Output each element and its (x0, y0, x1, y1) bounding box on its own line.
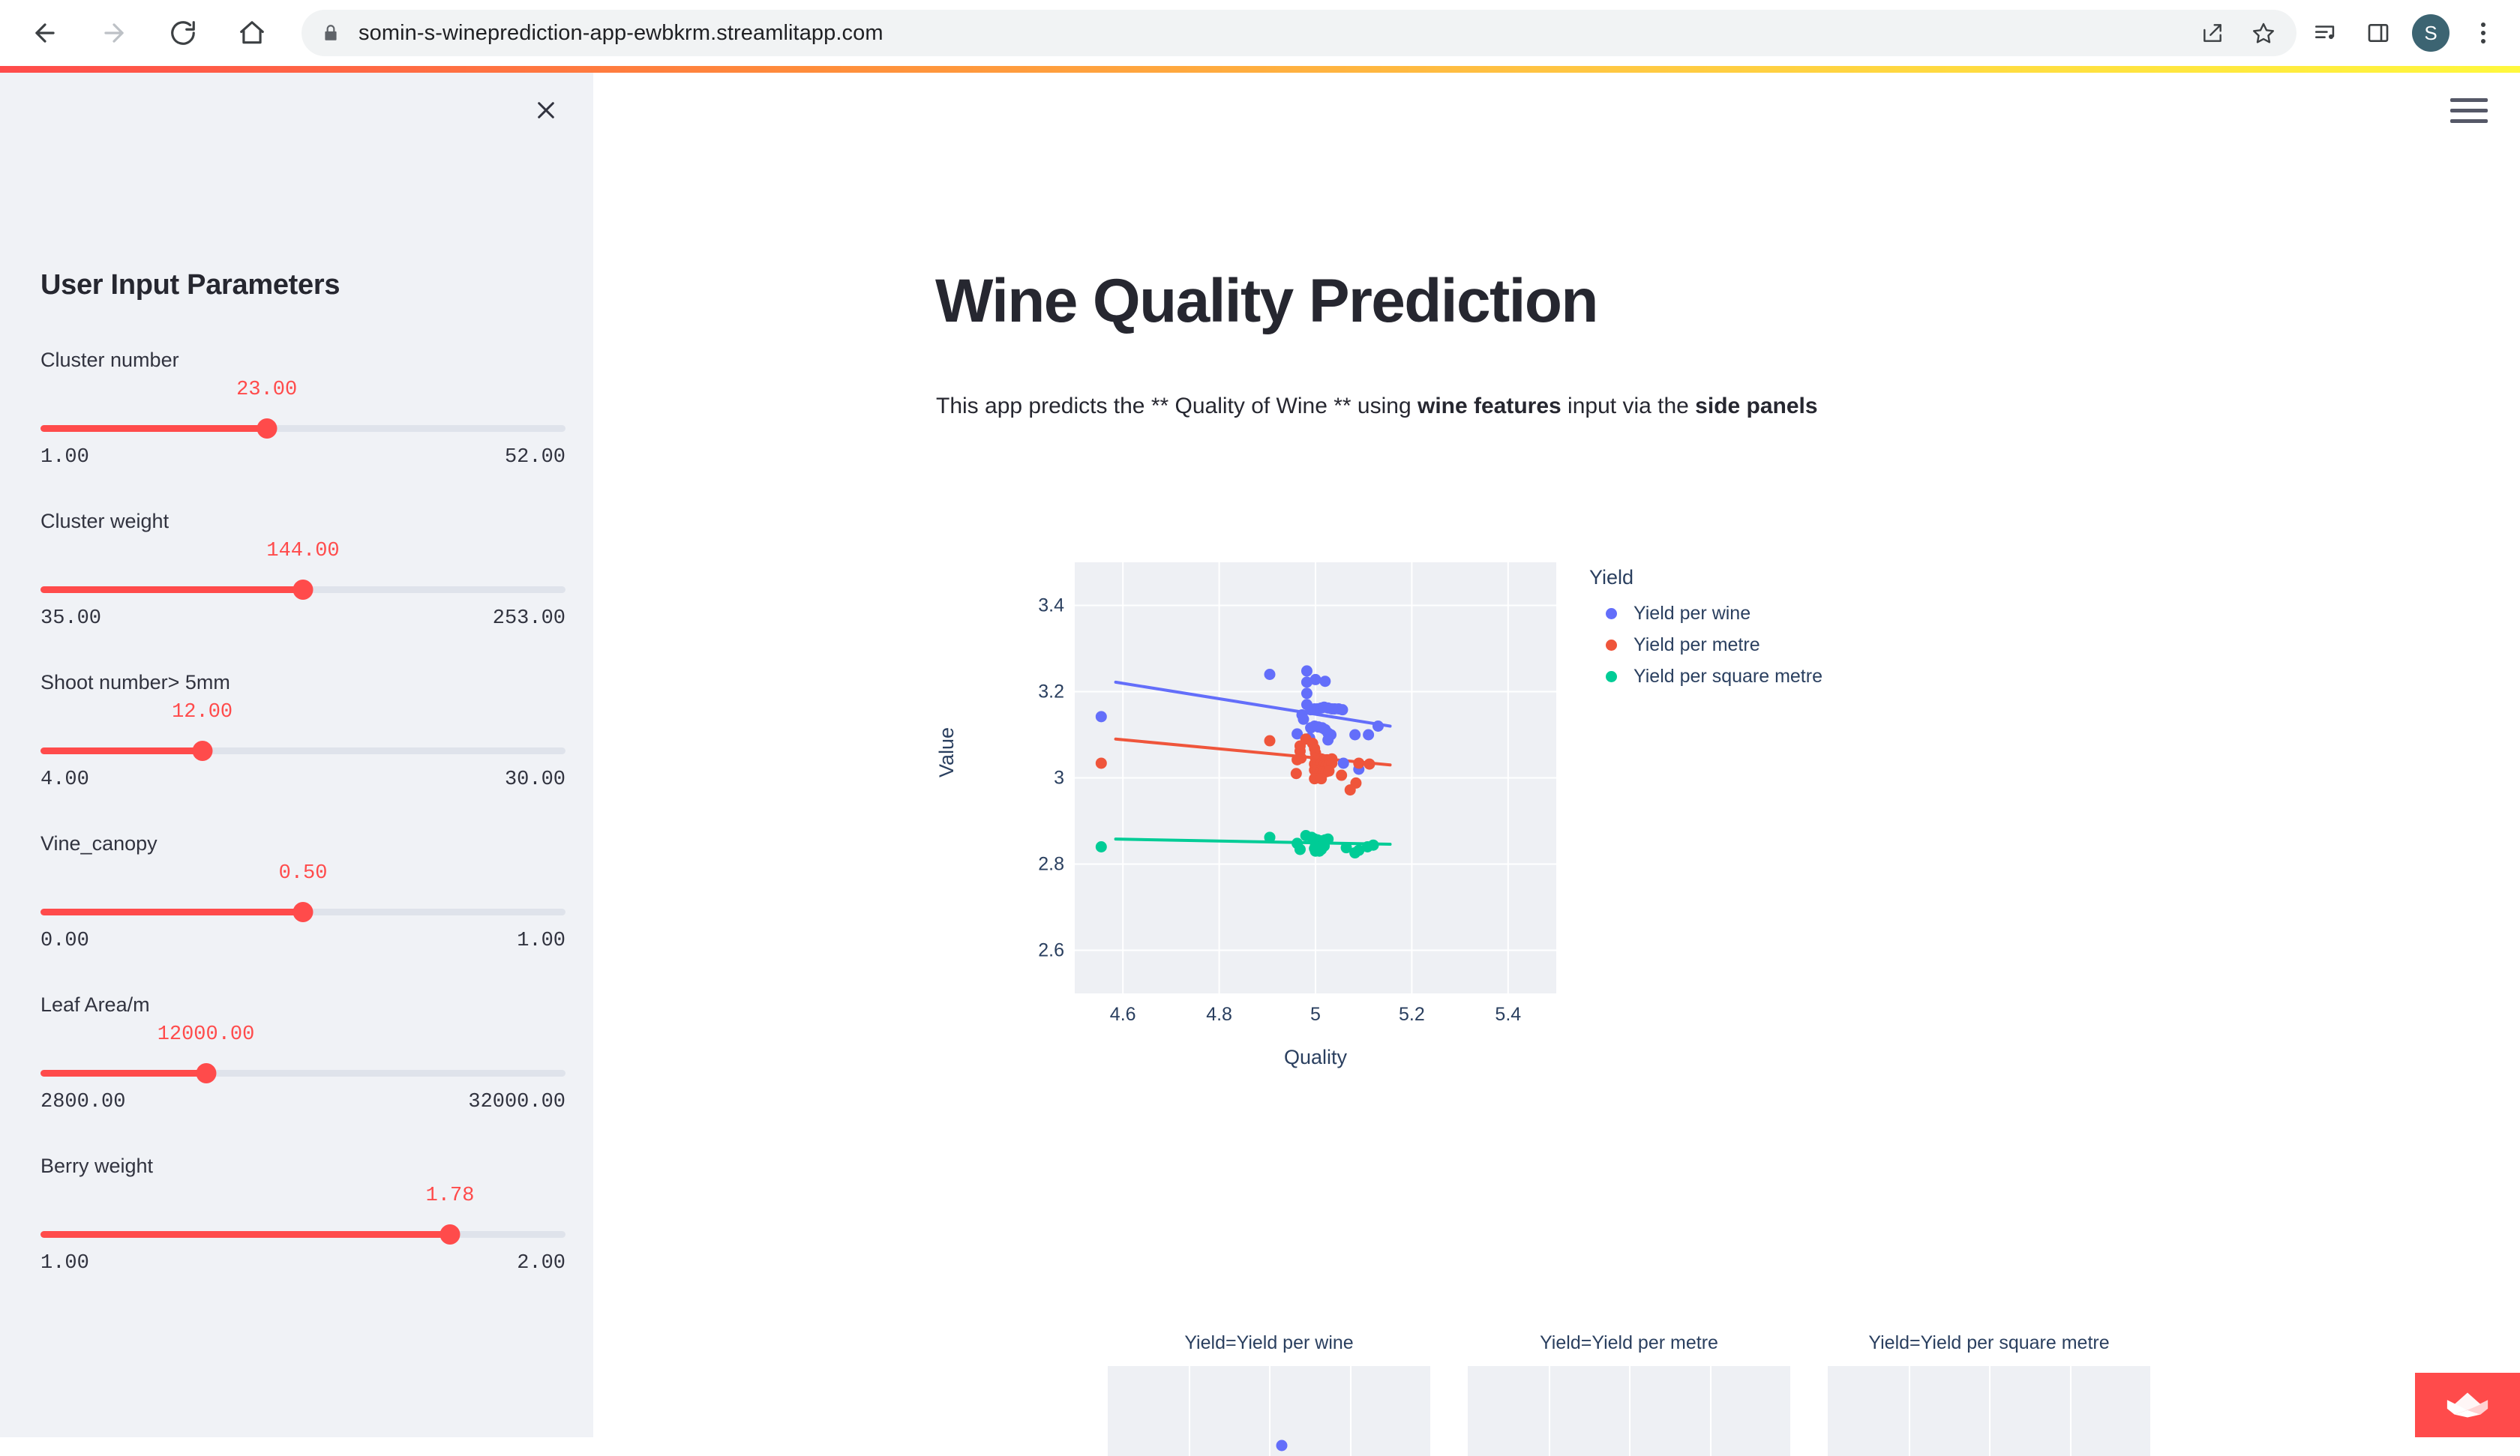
facet-grid-line (1629, 1366, 1630, 1456)
data-point[interactable] (1372, 721, 1384, 732)
y-tick-label: 2.6 (1038, 939, 1064, 961)
slider-label: Cluster number (40, 350, 565, 370)
slider-thumb[interactable] (293, 580, 313, 600)
facet-grid-line (1710, 1366, 1711, 1456)
page-title: Wine Quality Prediction (935, 266, 1597, 337)
data-point[interactable] (1368, 840, 1379, 851)
y-tick-label: 3.2 (1038, 681, 1064, 703)
legend-color-dot (1606, 671, 1617, 682)
slider-value: 1.78 (426, 1185, 475, 1207)
facet-grid-line (2070, 1366, 2071, 1456)
slider-fill (40, 425, 267, 432)
page-subtitle: This app predicts the ** Quality of Wine… (936, 389, 1818, 423)
facet-panel-0: Yield=Yield per wine (1108, 1332, 1430, 1456)
data-point[interactable] (1319, 676, 1330, 687)
data-point[interactable] (1096, 841, 1107, 852)
slider-bounds: 4.0030.00 (40, 768, 565, 791)
subtitle-bold-1: wine features (1417, 394, 1561, 418)
browser-toolbar-actions: S (2302, 10, 2506, 56)
slider-fill (40, 586, 303, 593)
data-point[interactable] (1315, 773, 1327, 784)
facet-data-point[interactable] (1276, 1440, 1288, 1452)
slider-4[interactable]: Leaf Area/m12000.002800.0032000.00 (40, 995, 565, 1156)
slider-3[interactable]: Vine_canopy0.500.001.00 (40, 834, 565, 995)
data-point[interactable] (1096, 757, 1107, 768)
slider-thumb[interactable] (196, 1063, 216, 1083)
x-tick-label: 5 (1310, 1004, 1321, 1026)
reload-icon[interactable] (159, 9, 207, 57)
facet-grid-line (1909, 1366, 1910, 1456)
lock-icon (321, 23, 340, 43)
facet-plot-area (1828, 1366, 2150, 1456)
facet-strip: Yield Yield=Yield per wineYield=Yield pe… (935, 1332, 2480, 1437)
slider-max: 253.00 (493, 607, 565, 630)
data-point[interactable] (1264, 831, 1276, 843)
data-point[interactable] (1349, 847, 1360, 858)
facet-grid-line (1350, 1366, 1351, 1456)
slider-track[interactable] (40, 425, 565, 432)
plot-svg (1075, 562, 1556, 993)
x-tick-label: 4.6 (1110, 1004, 1136, 1026)
y-axis-label: Value (935, 727, 958, 777)
address-bar[interactable]: somin-s-wineprediction-app-ewbkrm.stream… (301, 10, 2296, 56)
sidebar: User Input Parameters Cluster number23.0… (0, 73, 593, 1437)
avatar-initial: S (2412, 14, 2449, 52)
slider-max: 1.00 (517, 930, 565, 952)
x-tick-label: 5.2 (1399, 1004, 1425, 1026)
slider-track[interactable] (40, 1070, 565, 1077)
x-tick-label: 5.4 (1495, 1004, 1521, 1026)
slider-label: Cluster weight (40, 511, 565, 532)
slider-track[interactable] (40, 1231, 565, 1238)
slider-fill (40, 909, 303, 915)
facet-panel-1: Yield=Yield per metre (1468, 1332, 1790, 1456)
slider-value: 0.50 (279, 862, 328, 885)
data-point[interactable] (1301, 665, 1312, 676)
data-point[interactable] (1291, 754, 1303, 765)
trendline (1116, 739, 1390, 765)
data-point[interactable] (1310, 674, 1321, 685)
slider-1[interactable]: Cluster weight144.0035.00253.00 (40, 511, 565, 673)
legend-label: Yield per metre (1633, 634, 1760, 656)
legend-label: Yield per wine (1633, 603, 1750, 625)
data-point[interactable] (1349, 729, 1360, 741)
facet-title: Yield=Yield per square metre (1828, 1332, 2150, 1354)
facet-title: Yield=Yield per metre (1468, 1332, 1790, 1354)
slider-bounds: 2800.0032000.00 (40, 1091, 565, 1113)
main-content: Wine Quality Prediction This app predict… (593, 73, 2520, 1437)
data-point[interactable] (1264, 669, 1276, 680)
slider-min: 1.00 (40, 1252, 89, 1275)
slider-0[interactable]: Cluster number23.001.0052.00 (40, 350, 565, 511)
streamlit-loading-gradient-bar (0, 66, 2520, 73)
y-tick-label: 3.4 (1038, 595, 1064, 616)
legend-item[interactable]: Yield per metre (1589, 634, 1822, 656)
y-tick-label: 2.8 (1038, 853, 1064, 875)
slider-bounds: 1.002.00 (40, 1252, 565, 1275)
slider-value: 23.00 (236, 379, 297, 401)
slider-track[interactable] (40, 747, 565, 754)
legend-item[interactable]: Yield per square metre (1589, 666, 1822, 688)
legend-rows: Yield per wineYield per metreYield per s… (1589, 603, 1822, 688)
data-point[interactable] (1096, 711, 1107, 722)
browser-chrome: somin-s-wineprediction-app-ewbkrm.stream… (0, 0, 2520, 66)
slider-value: 12000.00 (157, 1023, 255, 1046)
legend-title: Yield (1589, 566, 1822, 589)
slider-track[interactable] (40, 586, 565, 593)
side-panel-icon[interactable] (2355, 10, 2401, 56)
forward-arrow-icon[interactable] (90, 9, 138, 57)
data-point[interactable] (1297, 714, 1309, 725)
slider-min: 0.00 (40, 930, 89, 952)
plot-area (1075, 562, 1556, 993)
slider-2[interactable]: Shoot number> 5mm12.004.0030.00 (40, 673, 565, 834)
slider-min: 2800.00 (40, 1091, 125, 1113)
streamlit-app: User Input Parameters Cluster number23.0… (0, 73, 2520, 1437)
data-point[interactable] (1322, 734, 1333, 745)
facet-plot-area (1468, 1366, 1790, 1456)
data-point[interactable] (1363, 759, 1375, 770)
home-icon[interactable] (228, 9, 276, 57)
subtitle-part-2: input via the (1561, 394, 1695, 418)
avatar[interactable]: S (2407, 10, 2454, 56)
slider-fill (40, 1070, 206, 1077)
slider-label: Leaf Area/m (40, 995, 565, 1015)
slider-list: Cluster number23.001.0052.00Cluster weig… (40, 350, 565, 1317)
legend-label: Yield per square metre (1633, 666, 1822, 688)
slider-bounds: 1.0052.00 (40, 446, 565, 469)
slider-min: 35.00 (40, 607, 101, 630)
legend-item[interactable]: Yield per wine (1589, 603, 1822, 625)
slider-bounds: 0.001.00 (40, 930, 565, 952)
data-point[interactable] (1363, 729, 1374, 741)
slider-label: Berry weight (40, 1156, 565, 1176)
chart-legend: Yield Yield per wineYield per metreYield… (1589, 566, 1822, 697)
data-point[interactable] (1338, 757, 1349, 768)
data-point[interactable] (1345, 784, 1356, 795)
close-icon[interactable] (525, 89, 567, 131)
data-point[interactable] (1336, 704, 1348, 715)
url-text: somin-s-wineprediction-app-ewbkrm.stream… (358, 21, 883, 46)
data-point[interactable] (1314, 846, 1325, 857)
facet-plot-area (1108, 1366, 1430, 1456)
legend-color-dot (1606, 608, 1617, 619)
slider-thumb[interactable] (256, 418, 277, 439)
data-point[interactable] (1294, 843, 1306, 855)
sidebar-title: User Input Parameters (40, 269, 340, 301)
slider-fill (40, 747, 202, 754)
slider-min: 4.00 (40, 768, 89, 791)
three-dot-menu-icon[interactable] (2460, 10, 2506, 56)
slider-max: 30.00 (505, 768, 565, 791)
data-point[interactable] (1291, 768, 1302, 779)
subtitle-bold-2: side panels (1695, 394, 1817, 418)
data-point[interactable] (1301, 688, 1312, 699)
omnibox-actions (2190, 10, 2286, 55)
slider-fill (40, 1231, 450, 1238)
data-point[interactable] (1264, 735, 1276, 747)
legend-color-dot (1606, 640, 1617, 651)
data-point[interactable] (1336, 770, 1347, 781)
x-axis-ticks: 4.64.855.25.4 (1075, 1004, 1556, 1034)
facet-panel-2: Yield=Yield per square metre (1828, 1332, 2150, 1456)
slider-track[interactable] (40, 909, 565, 915)
slider-bounds: 35.00253.00 (40, 607, 565, 630)
scatter-chart[interactable]: Value 2.62.833.23.4 4.64.855.25.4 Qualit… (935, 493, 2480, 1317)
slider-thumb[interactable] (440, 1224, 460, 1245)
x-tick-label: 4.8 (1206, 1004, 1232, 1026)
facet-title: Yield=Yield per wine (1108, 1332, 1430, 1354)
slider-label: Shoot number> 5mm (40, 673, 565, 693)
slider-thumb[interactable] (293, 902, 313, 922)
facet-grid-line (1989, 1366, 1990, 1456)
slider-value: 144.00 (266, 540, 339, 562)
share-icon[interactable] (2190, 10, 2235, 55)
slider-min: 1.00 (40, 446, 89, 469)
y-axis-ticks: 2.62.833.23.4 (1010, 562, 1064, 993)
trendline (1116, 682, 1390, 727)
facet-grid-line (1549, 1366, 1550, 1456)
facet-grid-line (1189, 1366, 1190, 1456)
subtitle-part-1: This app predicts the ** Quality of Wine… (936, 394, 1417, 418)
slider-max: 2.00 (517, 1252, 565, 1275)
back-arrow-icon[interactable] (21, 9, 69, 57)
slider-5[interactable]: Berry weight1.781.002.00 (40, 1156, 565, 1317)
slider-value: 12.00 (172, 701, 232, 724)
media-playlist-icon[interactable] (2302, 10, 2349, 56)
manage-app-badge[interactable] (2415, 1373, 2520, 1437)
data-point[interactable] (1353, 757, 1364, 768)
slider-max: 52.00 (505, 446, 565, 469)
streamlit-logo-icon (2444, 1389, 2491, 1421)
y-tick-label: 3 (1054, 767, 1064, 789)
star-icon[interactable] (2241, 10, 2286, 55)
facet-grid-line (1269, 1366, 1270, 1456)
x-axis-label: Quality (1075, 1046, 1556, 1069)
slider-max: 32000.00 (468, 1091, 565, 1113)
hamburger-menu-icon[interactable] (2446, 88, 2491, 133)
slider-label: Vine_canopy (40, 834, 565, 854)
slider-thumb[interactable] (192, 741, 212, 761)
